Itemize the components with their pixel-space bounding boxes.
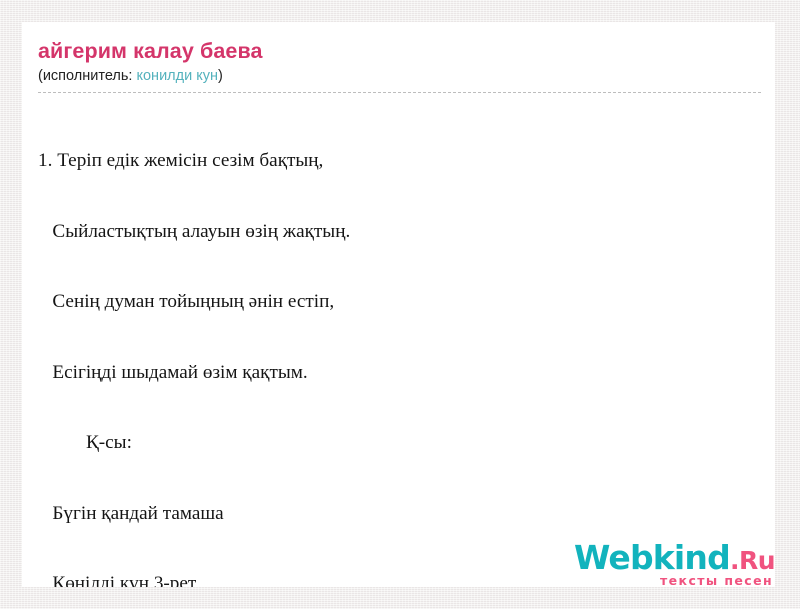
song-header: айгерим калау баева (исполнитель: конилд…	[38, 38, 761, 85]
logo-tld-text: .Ru	[730, 546, 775, 575]
site-logo[interactable]: Webkind.Ru тексты песен	[570, 541, 775, 583]
lyrics-text: 1. Теріп едік жемісін сезім бақтың, Сыйл…	[38, 102, 761, 587]
logo-name-text: Webkind	[574, 538, 730, 577]
artist-link[interactable]: конилди кун	[136, 68, 218, 84]
page-title: айгерим калау баева	[38, 38, 761, 64]
artist-line: (исполнитель: конилди кун)	[38, 67, 761, 85]
lyric-line: Есігіңді шыдамай өзім қақтым.	[38, 361, 761, 385]
header-divider	[38, 92, 761, 93]
lyric-line: Бүгін қандай тамаша	[38, 502, 761, 526]
song-content-card: айгерим калау баева (исполнитель: конилд…	[22, 22, 775, 587]
lyric-line: Сыйластықтың алауын өзің жақтың.	[38, 220, 761, 244]
artist-suffix-label: )	[218, 68, 223, 84]
lyric-line: 1. Теріп едік жемісін сезім бақтың,	[38, 149, 761, 173]
artist-prefix-label: (исполнитель:	[38, 68, 136, 84]
lyric-line-chorus-marker: Қ-сы:	[38, 431, 761, 455]
lyric-line: Сенің думан тойыңның әнін естіп,	[38, 290, 761, 314]
logo-wordmark: Webkind.Ru	[570, 541, 775, 577]
